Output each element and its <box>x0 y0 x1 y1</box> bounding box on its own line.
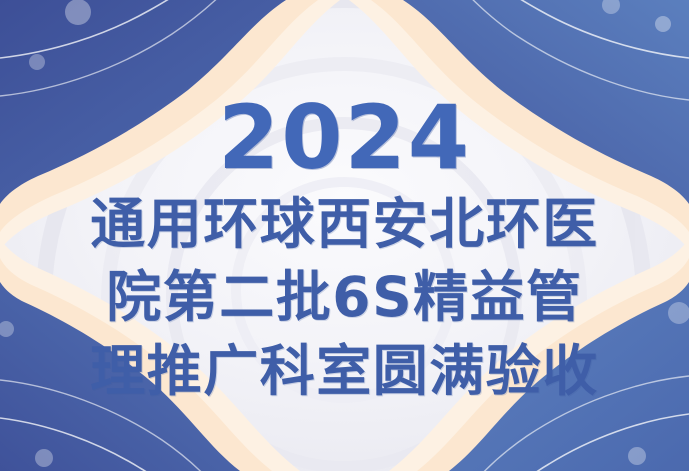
headline-line-2: 院第二批6S精益管 <box>106 261 582 335</box>
headline-line-1: 通用环球西安北环医 <box>90 188 599 262</box>
poster-content: 2024 通用环球西安北环医 院第二批6S精益管 理推广科室圆满验收 <box>0 0 689 471</box>
headline-block: 通用环球西安北环医 院第二批6S精益管 理推广科室圆满验收 <box>90 188 599 409</box>
year-heading: 2024 <box>218 96 471 180</box>
headline-line-3: 理推广科室圆满验收 <box>90 335 599 409</box>
poster-canvas: 2024 通用环球西安北环医 院第二批6S精益管 理推广科室圆满验收 <box>0 0 689 471</box>
